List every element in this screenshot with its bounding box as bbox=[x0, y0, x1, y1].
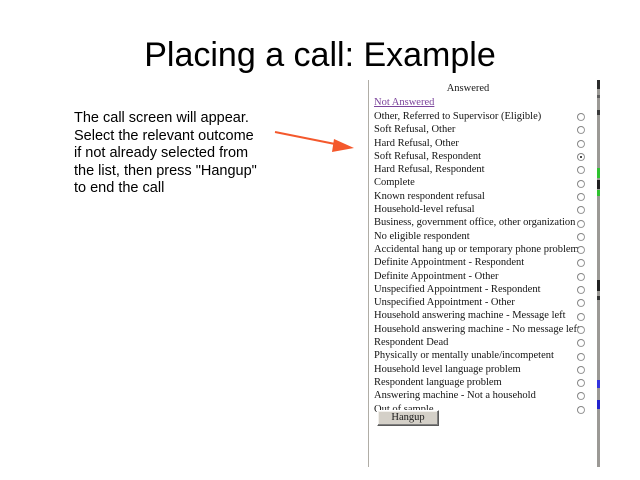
call-outcome-row[interactable]: Unspecified Appointment - Other bbox=[369, 296, 597, 309]
instruction-text-block: The call screen will appear. Select the … bbox=[74, 110, 284, 198]
answered-column-header: Answered bbox=[369, 83, 567, 94]
call-outcome-label: Other, Referred to Supervisor (Eligible) bbox=[374, 110, 541, 123]
call-outcome-row[interactable]: Unspecified Appointment - Respondent bbox=[369, 283, 597, 296]
call-outcome-label: Household level language problem bbox=[374, 363, 521, 376]
edge-strip-mark bbox=[597, 95, 600, 98]
call-outcome-label: Household-level refusal bbox=[374, 203, 475, 216]
call-outcome-label: Definite Appointment - Respondent bbox=[374, 256, 524, 269]
call-outcome-radio[interactable] bbox=[577, 126, 585, 134]
call-outcome-label: Accidental hang up or temporary phone pr… bbox=[374, 243, 579, 256]
call-outcome-label: No eligible respondent bbox=[374, 230, 470, 243]
call-outcome-label: Soft Refusal, Other bbox=[374, 123, 455, 136]
call-outcome-row[interactable]: Hard Refusal, Other bbox=[369, 137, 597, 150]
edge-strip-mark bbox=[597, 180, 600, 189]
call-outcome-label: Definite Appointment - Other bbox=[374, 270, 499, 283]
call-outcome-radio[interactable] bbox=[577, 273, 585, 281]
call-outcome-label: Complete bbox=[374, 176, 415, 189]
edge-strip-mark bbox=[597, 380, 600, 388]
call-outcome-row[interactable]: Household level language problem bbox=[369, 363, 597, 376]
call-outcome-radio[interactable] bbox=[577, 220, 585, 228]
call-outcome-radio[interactable] bbox=[577, 326, 585, 334]
call-outcome-row[interactable]: Accidental hang up or temporary phone pr… bbox=[369, 243, 597, 256]
instruction-line-3: if not already selected from bbox=[74, 145, 284, 163]
pointer-arrow-icon bbox=[272, 126, 358, 156]
call-outcome-row[interactable]: Household-level refusal bbox=[369, 203, 597, 216]
call-outcome-label: Household answering machine - No message… bbox=[374, 323, 580, 336]
call-outcome-row[interactable]: Hard Refusal, Respondent bbox=[369, 163, 597, 176]
call-outcome-radio[interactable] bbox=[577, 206, 585, 214]
call-outcome-label: Physically or mentally unable/incompeten… bbox=[374, 349, 554, 362]
edge-strip-mark bbox=[597, 400, 600, 409]
call-outcome-label: Soft Refusal, Respondent bbox=[374, 150, 481, 163]
call-outcome-radio[interactable] bbox=[577, 166, 585, 174]
instruction-line-4: the list, then press "Hangup" bbox=[74, 163, 284, 181]
call-outcome-row[interactable]: Household answering machine - No message… bbox=[369, 323, 597, 336]
call-outcome-label: Hard Refusal, Other bbox=[374, 137, 459, 150]
call-outcome-radio[interactable] bbox=[577, 180, 585, 188]
call-outcome-row[interactable]: Business, government office, other organ… bbox=[369, 216, 597, 229]
call-outcome-radio[interactable] bbox=[577, 392, 585, 400]
call-outcome-label: Respondent Dead bbox=[374, 336, 448, 349]
call-outcome-row[interactable]: Soft Refusal, Other bbox=[369, 123, 597, 136]
call-outcome-radio[interactable] bbox=[577, 406, 585, 414]
call-outcome-radio[interactable] bbox=[577, 259, 585, 267]
call-outcome-row[interactable]: No eligible respondent bbox=[369, 230, 597, 243]
call-outcome-list: Other, Referred to Supervisor (Eligible)… bbox=[369, 110, 597, 416]
call-outcome-row[interactable]: Physically or mentally unable/incompeten… bbox=[369, 349, 597, 362]
call-outcome-row[interactable]: Household answering machine - Message le… bbox=[369, 309, 597, 322]
edge-strip-mark bbox=[597, 80, 600, 89]
call-outcome-row[interactable]: Complete bbox=[369, 176, 597, 189]
call-outcome-row[interactable]: Soft Refusal, Respondent bbox=[369, 150, 597, 163]
call-outcome-radio[interactable] bbox=[577, 140, 585, 148]
call-outcome-label: Known respondent refusal bbox=[374, 190, 485, 203]
instruction-line-5: to end the call bbox=[74, 180, 284, 198]
slide-canvas: Placing a call: Example The call screen … bbox=[0, 0, 640, 480]
call-outcome-radio[interactable] bbox=[577, 286, 585, 294]
call-outcome-label: Unspecified Appointment - Respondent bbox=[374, 283, 541, 296]
call-outcome-row[interactable]: Other, Referred to Supervisor (Eligible) bbox=[369, 110, 597, 123]
call-outcome-label: Unspecified Appointment - Other bbox=[374, 296, 515, 309]
call-outcome-radio[interactable] bbox=[577, 366, 585, 374]
instruction-line-1: The call screen will appear. bbox=[74, 110, 284, 128]
call-screen-panel: Answered Not Answered Other, Referred to… bbox=[369, 80, 597, 467]
call-outcome-radio[interactable] bbox=[577, 233, 585, 241]
page-title: Placing a call: Example bbox=[0, 36, 640, 75]
call-outcome-label: Answering machine - Not a household bbox=[374, 389, 536, 402]
instruction-line-2: Select the relevant outcome bbox=[74, 128, 284, 146]
call-outcome-row[interactable]: Respondent language problem bbox=[369, 376, 597, 389]
call-outcome-row[interactable]: Known respondent refusal bbox=[369, 190, 597, 203]
call-outcome-radio[interactable] bbox=[577, 353, 585, 361]
call-screen-screenshot: Answered Not Answered Other, Referred to… bbox=[368, 80, 599, 467]
edge-strip-mark bbox=[597, 168, 600, 178]
window-edge-strip[interactable] bbox=[597, 80, 600, 467]
hangup-button[interactable]: Hangup bbox=[377, 410, 439, 426]
edge-strip-mark bbox=[597, 280, 600, 291]
call-outcome-radio[interactable] bbox=[577, 339, 585, 347]
call-outcome-label: Household answering machine - Message le… bbox=[374, 309, 566, 322]
call-outcome-label: Hard Refusal, Respondent bbox=[374, 163, 485, 176]
call-outcome-label: Business, government office, other organ… bbox=[374, 216, 575, 229]
call-outcome-radio[interactable] bbox=[577, 313, 585, 321]
call-outcome-label: Respondent language problem bbox=[374, 376, 502, 389]
call-outcome-row[interactable]: Definite Appointment - Other bbox=[369, 270, 597, 283]
call-outcome-row[interactable]: Respondent Dead bbox=[369, 336, 597, 349]
edge-strip-mark bbox=[597, 110, 600, 115]
call-outcome-radio[interactable] bbox=[577, 246, 585, 254]
edge-strip-mark bbox=[597, 296, 600, 300]
call-outcome-radio[interactable] bbox=[577, 299, 585, 307]
call-outcome-radio[interactable] bbox=[577, 113, 585, 121]
call-outcome-radio[interactable] bbox=[577, 153, 585, 161]
call-outcome-row[interactable]: Answering machine - Not a household bbox=[369, 389, 597, 402]
call-outcome-row[interactable]: Definite Appointment - Respondent bbox=[369, 256, 597, 269]
edge-strip-mark bbox=[597, 190, 600, 196]
not-answered-link[interactable]: Not Answered bbox=[374, 97, 434, 108]
call-outcome-radio[interactable] bbox=[577, 379, 585, 387]
call-outcome-radio[interactable] bbox=[577, 193, 585, 201]
